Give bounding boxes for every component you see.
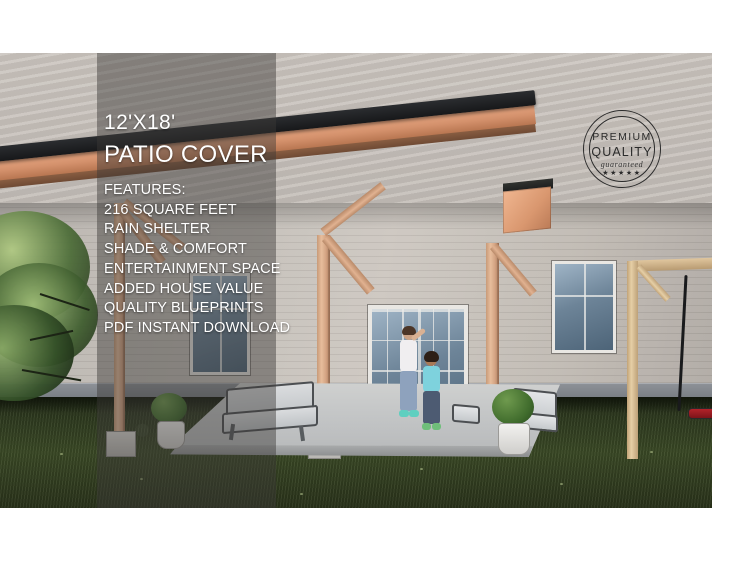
page-title: PATIO COVER: [104, 141, 268, 169]
badge-line-guaranteed: guaranteed: [583, 160, 661, 169]
badge-stars-icon: ★★★★★: [583, 169, 661, 177]
feature-item: SHADE & COMFORT: [104, 240, 290, 260]
feature-item: 216 SQUARE FEET: [104, 201, 290, 221]
badge-line-premium: PREMIUM: [583, 131, 661, 143]
size-label: 12'X18': [104, 111, 176, 135]
premium-quality-badge: PREMIUM QUALITY guaranteed ★★★★★: [583, 110, 661, 188]
badge-line-quality: QUALITY: [583, 145, 661, 159]
patio-cover-rendering: 12'X18' PATIO COVER FEATURES: 216 SQUARE…: [0, 53, 712, 508]
patio-chair-center-small: [452, 404, 480, 424]
roof-end-cap: [503, 186, 551, 233]
shrub-right: [492, 389, 534, 425]
swing-post: [627, 261, 638, 459]
feature-item: QUALITY BLUEPRINTS: [104, 299, 290, 319]
features-heading: FEATURES:: [104, 181, 290, 201]
person-adult: [396, 327, 422, 437]
feature-item: PDF INSTANT DOWNLOAD: [104, 319, 290, 339]
product-listing-image: 12'X18' PATIO COVER FEATURES: 216 SQUARE…: [0, 0, 750, 562]
person-child: [420, 353, 444, 439]
swing-seat: [688, 408, 712, 419]
feature-item: ADDED HOUSE VALUE: [104, 280, 290, 300]
feature-item: RAIN SHELTER: [104, 220, 290, 240]
feature-item: ENTERTAINMENT SPACE: [104, 260, 290, 280]
window-right: [552, 261, 616, 353]
features-list: FEATURES: 216 SQUARE FEET RAIN SHELTER S…: [104, 181, 290, 339]
planter-right: [498, 423, 530, 455]
